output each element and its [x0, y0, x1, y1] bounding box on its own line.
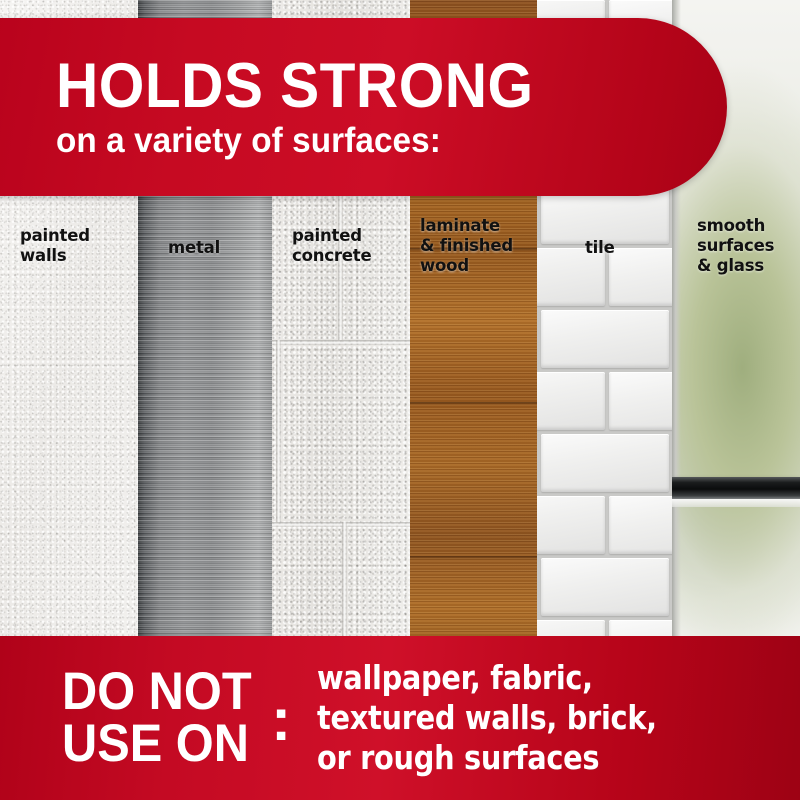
- window-mullion: [672, 477, 800, 499]
- surface-label-metal: metal: [168, 238, 220, 258]
- do-not-use-heading: DO NOT USE ON :: [0, 666, 291, 770]
- do-not-use-line-2: USE ON: [62, 718, 252, 770]
- page-subtitle: on a variety of surfaces:: [56, 122, 674, 160]
- surface-label-smooth-glass: smooth surfaces & glass: [697, 216, 774, 276]
- surface-label-painted-concrete: painted concrete: [292, 226, 371, 266]
- product-infographic: HOLDS STRONG on a variety of surfaces: p…: [0, 0, 800, 800]
- surface-label-tile: tile: [585, 238, 615, 258]
- do-not-use-items: wallpaper, fabric, textured walls, brick…: [317, 658, 657, 778]
- holds-strong-banner: HOLDS STRONG on a variety of surfaces:: [0, 18, 727, 196]
- do-not-use-line-1: DO NOT: [62, 666, 252, 718]
- do-not-use-colon: :: [271, 694, 291, 746]
- do-not-use-banner: DO NOT USE ON : wallpaper, fabric, textu…: [0, 636, 800, 800]
- surface-label-painted-walls: painted walls: [20, 226, 90, 266]
- surface-label-laminate-wood: laminate & finished wood: [420, 216, 513, 276]
- window-sill: [672, 499, 800, 507]
- page-title: HOLDS STRONG: [56, 54, 661, 118]
